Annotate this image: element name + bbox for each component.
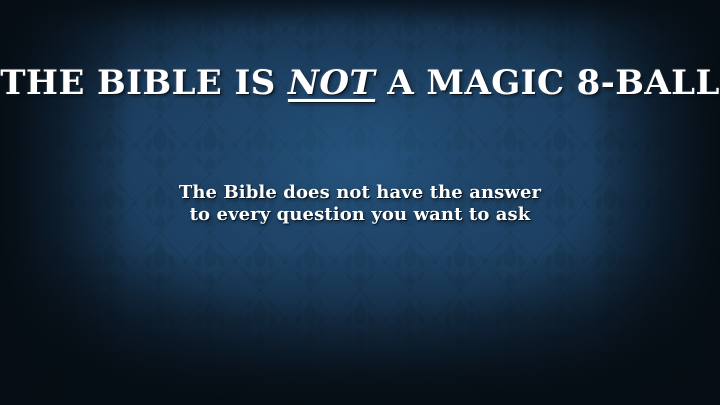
slide-title-prefix: THE BIBLE IS	[0, 63, 288, 103]
body-line-2: to every question you want to ask	[0, 204, 720, 226]
slide-body-text: The Bible does not have the answer to ev…	[0, 182, 720, 226]
presentation-slide: THE BIBLE IS NOT A MAGIC 8-BALL The Bibl…	[0, 0, 720, 405]
slide-title: THE BIBLE IS NOT A MAGIC 8-BALL	[0, 62, 720, 104]
slide-title-emphasis: NOT	[288, 63, 375, 103]
slide-content: THE BIBLE IS NOT A MAGIC 8-BALL The Bibl…	[0, 0, 720, 405]
body-line-1: The Bible does not have the answer	[0, 182, 720, 204]
slide-title-suffix: A MAGIC 8-BALL	[375, 63, 720, 103]
